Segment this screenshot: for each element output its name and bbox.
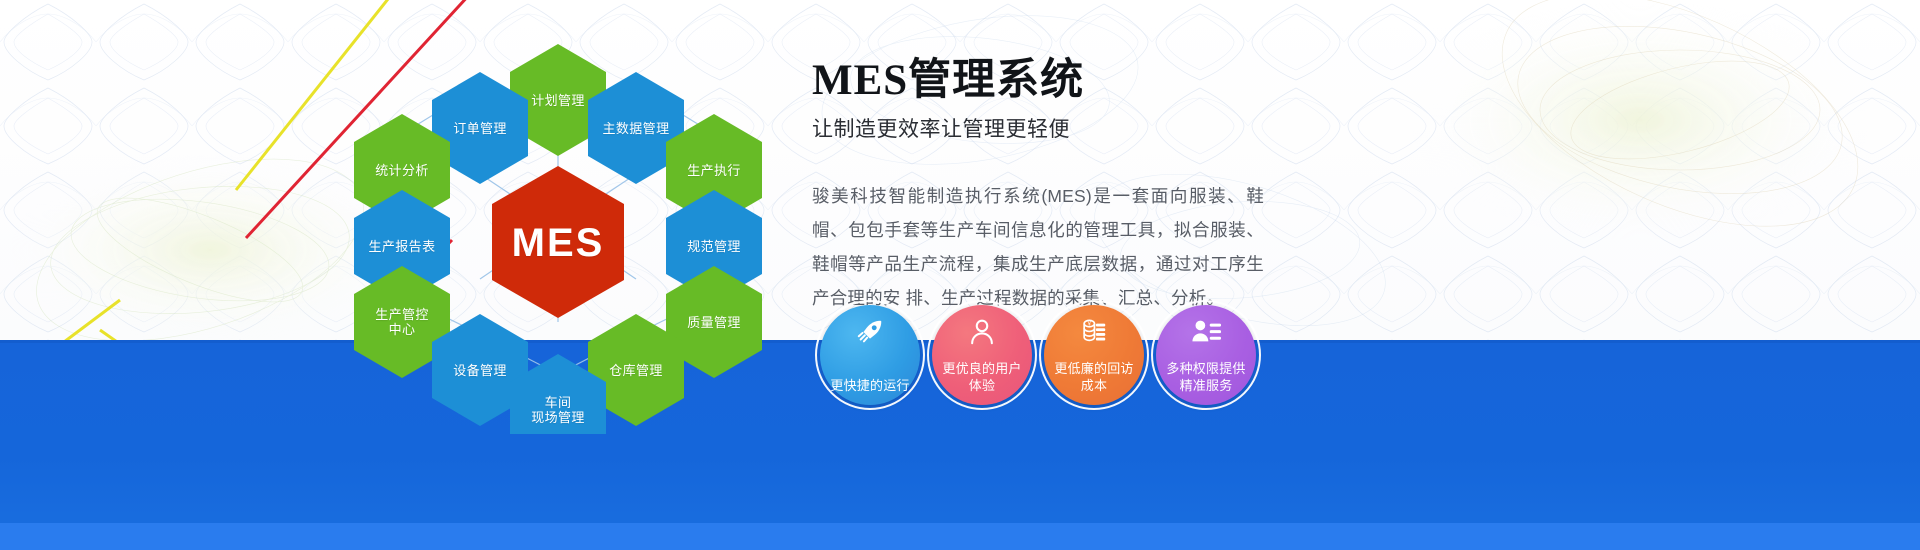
- mes-hex-diagram: MES 计划管理 订单管理 主数据管理 统计分析 生产执行 生产报告表 规范管理…: [330, 14, 800, 434]
- permissions-icon: [1156, 317, 1256, 347]
- badge-better-user-experience[interactable]: 更优良的用户 体验: [932, 305, 1032, 405]
- banner-root: MES 计划管理 订单管理 主数据管理 统计分析 生产执行 生产报告表 规范管理…: [0, 0, 1920, 550]
- badge-multi-permission[interactable]: 多种权限提供 精准服务: [1156, 305, 1256, 405]
- badge-lower-revisit-cost[interactable]: ¥ 更低廉的回访 成本: [1044, 305, 1144, 405]
- page-subtitle: 让制造更效率让管理更轻便: [812, 113, 1282, 143]
- feature-badges: 更快捷的运行 更优良的用户 体验: [820, 305, 1256, 405]
- user-icon: [932, 317, 1032, 347]
- badge-label: 更快捷的运行: [824, 377, 916, 394]
- badge-label: 多种权限提供 精准服务: [1160, 360, 1252, 394]
- hex-shapes: [354, 44, 762, 434]
- description-paragraph: 骏美科技智能制造执行系统(MES)是一套面向服装、鞋帽、包包手套等生产车间信息化…: [812, 180, 1264, 316]
- rocket-icon: [820, 317, 920, 347]
- badge-label: 更低廉的回访 成本: [1048, 360, 1140, 394]
- page-title: MES管理系统: [812, 58, 1282, 104]
- badge-faster-operation[interactable]: 更快捷的运行: [820, 305, 920, 405]
- blue-band-bottom-strip: [0, 523, 1920, 550]
- badge-label: 更优良的用户 体验: [936, 360, 1028, 394]
- banner-copy: MES管理系统 让制造更效率让管理更轻便 骏美科技智能制造执行系统(MES)是一…: [812, 58, 1282, 316]
